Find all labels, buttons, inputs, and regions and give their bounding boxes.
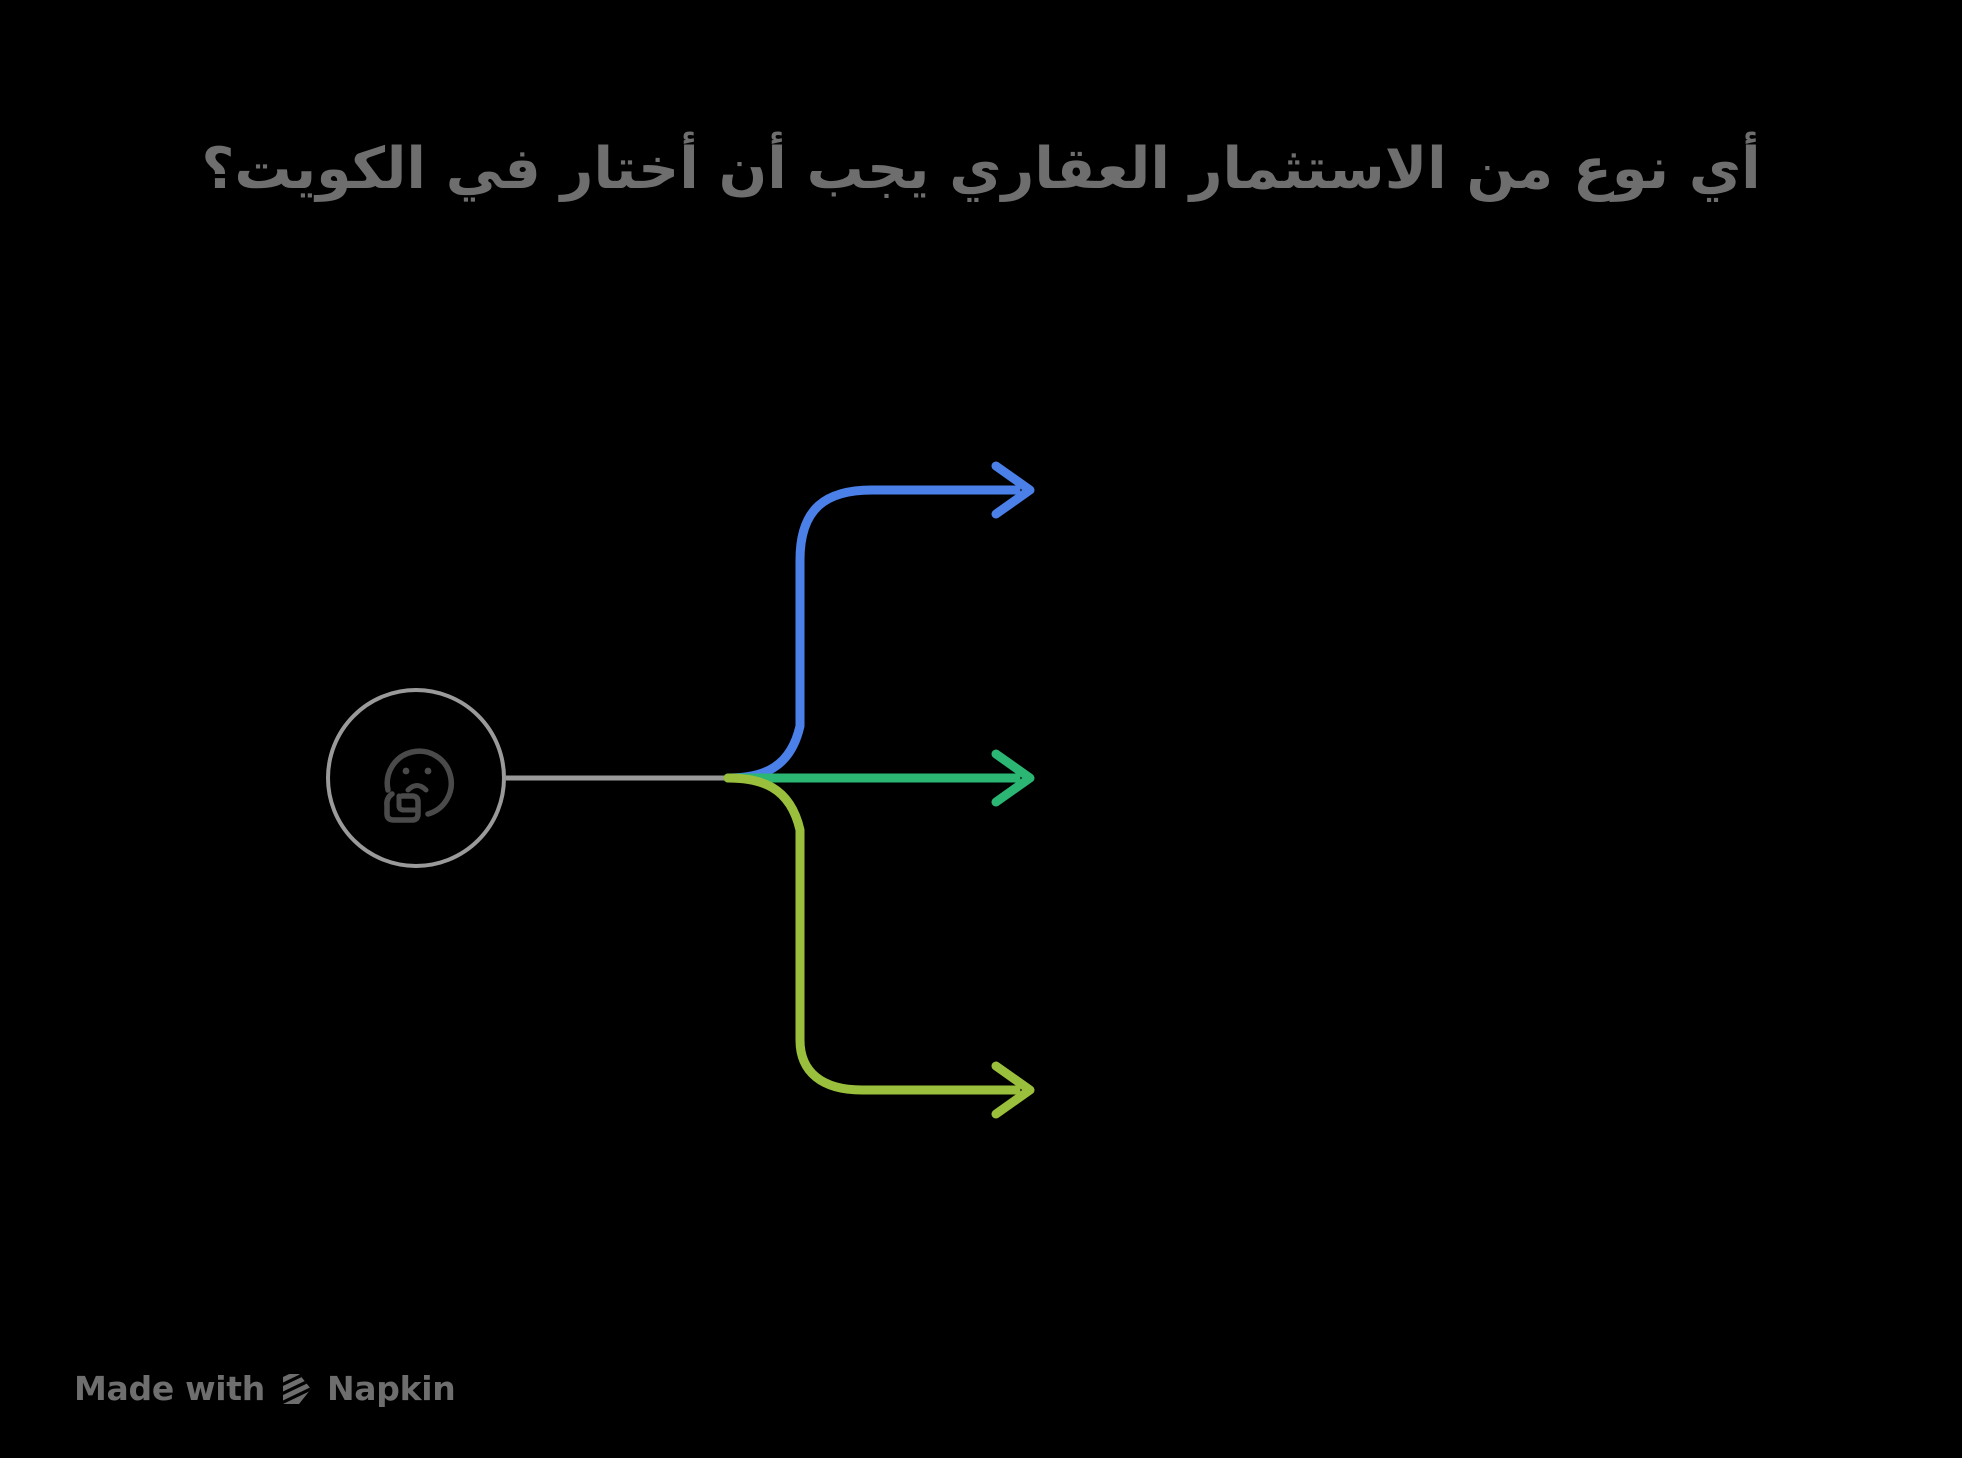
connector-wires: [0, 0, 1962, 1458]
hub-circle: [326, 688, 506, 868]
napkin-logo-icon: [279, 1372, 313, 1406]
thinking-face-icon: [366, 728, 474, 836]
made-with-napkin-footer: Made with Napkin: [74, 1369, 455, 1408]
footer-made-with-label: Made with: [74, 1369, 265, 1408]
branch-wire-residential: [728, 490, 1016, 778]
branch-wire-land: [728, 778, 1016, 1090]
footer-brand-label: Napkin: [327, 1369, 455, 1408]
diagram-canvas: أي نوع من الاستثمار العقاري يجب أن أختار…: [0, 0, 1962, 1458]
